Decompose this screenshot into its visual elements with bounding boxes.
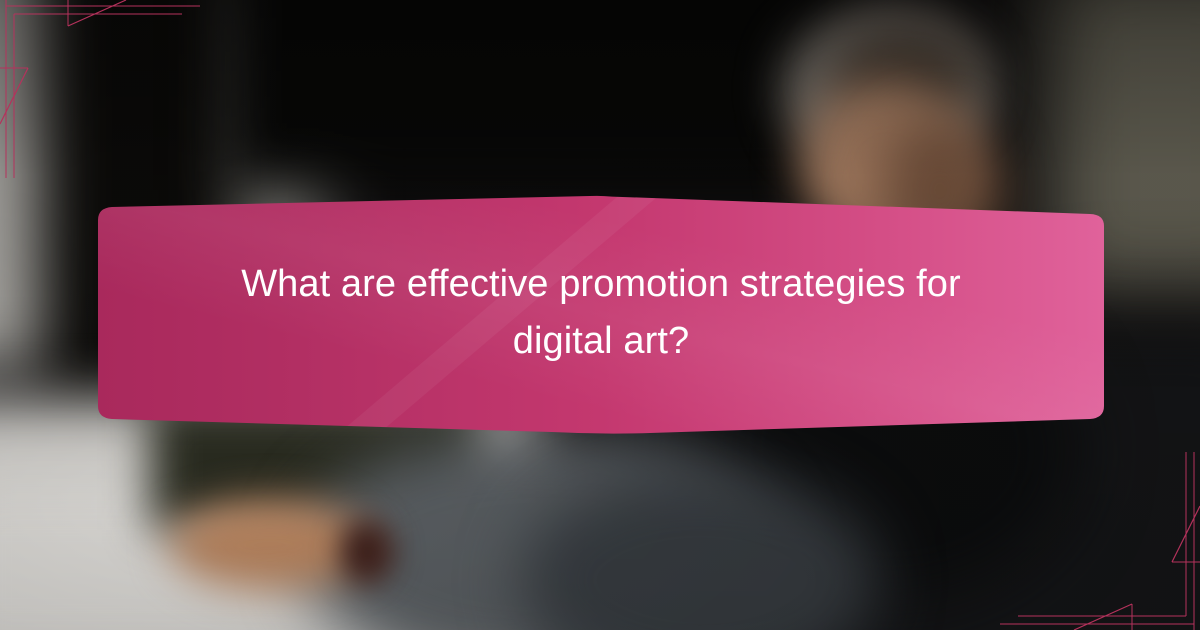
headline-banner: What are effective promotion strategies …	[90, 192, 1112, 437]
banner-title: What are effective promotion strategies …	[221, 256, 981, 368]
screenshot-canvas: What are effective promotion strategies …	[0, 0, 1200, 630]
banner-text-block: What are effective promotion strategies …	[90, 192, 1112, 437]
